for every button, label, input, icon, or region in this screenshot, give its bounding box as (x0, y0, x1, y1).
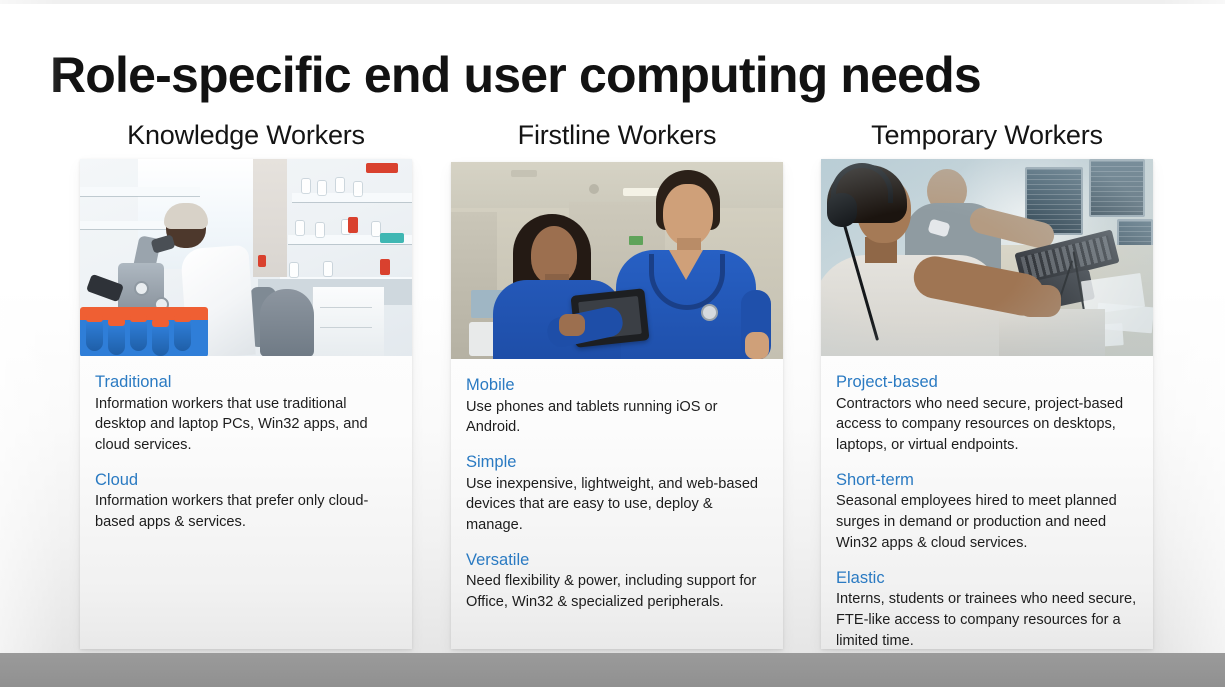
list-item: Cloud Information workers that prefer on… (95, 470, 397, 533)
item-description: Contractors who need secure, project-bas… (836, 394, 1138, 456)
column-temporary-workers: Temporary Workers (821, 120, 1153, 649)
lab-red-container (380, 259, 390, 275)
top-strip (0, 0, 1225, 4)
card-knowledge-workers: Traditional Information workers that use… (80, 159, 412, 649)
item-title: Versatile (466, 550, 768, 571)
lab-teal-container (380, 233, 404, 243)
sample-tube (86, 321, 103, 351)
column-knowledge-workers: Knowledge Workers (80, 120, 412, 649)
headset-earcup-icon (827, 193, 857, 227)
ceiling-sprinkler (589, 184, 599, 194)
item-description: Seasonal employees hired to meet planned… (836, 491, 1138, 553)
lab-scientist-photo (80, 159, 412, 356)
list-item: Short-term Seasonal employees hired to m… (836, 470, 1138, 554)
sample-tube (152, 326, 169, 356)
lab-vial (290, 263, 298, 277)
lab-red-container (366, 163, 398, 173)
bottom-band (0, 653, 1225, 687)
lab-vial (324, 262, 332, 276)
ceiling-vent (511, 170, 537, 177)
lab-vial (302, 179, 310, 193)
item-title: Short-term (836, 470, 1138, 491)
agent-hand (1017, 285, 1061, 317)
sample-tube (174, 321, 191, 351)
slide-canvas: Role-specific end user computing needs K… (0, 0, 1225, 687)
list-item: Elastic Interns, students or trainees wh… (836, 568, 1138, 652)
column-firstline-workers: Firstline Workers (451, 120, 783, 649)
exit-sign (629, 236, 643, 245)
nurse-female-hand (559, 314, 585, 336)
columns-container: Knowledge Workers (0, 120, 1225, 653)
computer-monitor (1089, 159, 1145, 217)
item-description: Use inexpensive, lightweight, and web-ba… (466, 474, 768, 536)
column-heading: Temporary Workers (821, 120, 1153, 151)
item-title: Elastic (836, 568, 1138, 589)
item-title: Mobile (466, 375, 768, 396)
card-body: Project-based Contractors who need secur… (821, 356, 1153, 661)
list-item: Traditional Information workers that use… (95, 372, 397, 456)
lab-vial (296, 221, 304, 235)
item-description: Information workers that prefer only clo… (95, 491, 397, 532)
lab-cabinet-seam (320, 327, 372, 328)
monitor-screen-lines (1091, 161, 1143, 215)
page-title: Role-specific end user computing needs (50, 46, 981, 104)
healthcare-workers-photo (451, 162, 783, 359)
list-item: Versatile Need flexibility & power, incl… (466, 550, 768, 613)
lab-stool (260, 289, 314, 356)
call-center-photo (821, 159, 1153, 356)
stethoscope-bell (701, 304, 718, 321)
column-heading: Knowledge Workers (80, 120, 412, 151)
lab-shelf (292, 193, 412, 202)
lab-vial (318, 181, 326, 195)
list-item: Simple Use inexpensive, lightweight, and… (466, 452, 768, 536)
card-body: Mobile Use phones and tablets running iO… (451, 359, 783, 623)
sample-tube (108, 325, 125, 355)
item-description: Information workers that use traditional… (95, 394, 397, 456)
lab-shelf (80, 187, 200, 196)
list-item: Mobile Use phones and tablets running iO… (466, 375, 768, 438)
microscope-knob (134, 281, 149, 296)
card-firstline-workers: Mobile Use phones and tablets running iO… (451, 162, 783, 649)
card-body: Traditional Information workers that use… (80, 356, 412, 543)
item-description: Use phones and tablets running iOS or An… (466, 397, 768, 438)
scientist-hair (164, 203, 208, 229)
list-item: Project-based Contractors who need secur… (836, 372, 1138, 456)
lab-vial (372, 222, 380, 236)
column-heading: Firstline Workers (451, 120, 783, 151)
item-title: Cloud (95, 470, 397, 491)
item-description: Need flexibility & power, including supp… (466, 571, 768, 612)
lab-red-container (258, 255, 266, 267)
lab-cabinet-seam (320, 307, 372, 308)
item-title: Traditional (95, 372, 397, 393)
lab-cabinet (312, 287, 384, 356)
item-title: Project-based (836, 372, 1138, 393)
lab-red-container (348, 217, 358, 233)
lab-vial (336, 178, 344, 192)
lab-vial (316, 223, 324, 237)
sample-tube (130, 321, 147, 351)
lab-vial (354, 182, 362, 196)
nurse-male-hand (745, 332, 769, 359)
item-description: Interns, students or trainees who need s… (836, 589, 1138, 651)
item-title: Simple (466, 452, 768, 473)
card-temporary-workers: Project-based Contractors who need secur… (821, 159, 1153, 649)
nurse-male-face (663, 184, 713, 246)
